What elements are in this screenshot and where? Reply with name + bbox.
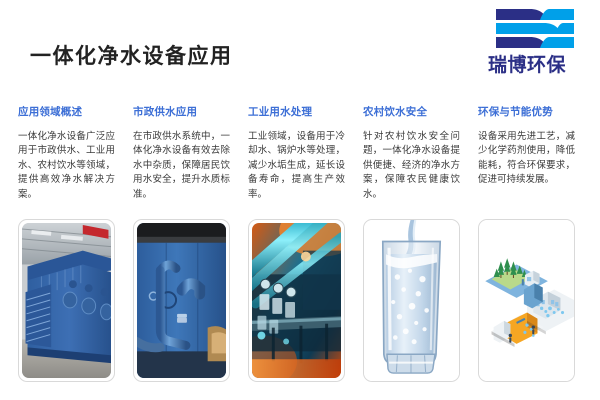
column-body-text: 针对农村饮水安全问题，一体化净水设备提供便捷、经济的净水方案，保障农民健康饮水。	[363, 130, 460, 222]
image-card-row	[18, 219, 582, 382]
column-body-text: 工业领域，设备用于冷却水、锅炉水等处理，减少水垢生成，延长设备寿命，提高生产效率…	[248, 130, 345, 222]
column-rural-drinking-safety: 农村饮水安全 针对农村饮水安全问题，一体化净水设备提供便捷、经济的净水方案，保障…	[363, 104, 460, 222]
brand-name: 瑞博环保	[468, 50, 586, 77]
column-eco-energy-advantage: 环保与节能优势 设备采用先进工艺，减少化学药剂使用，降低能耗，符合环保要求，促进…	[478, 104, 575, 222]
card-image-frame	[252, 223, 341, 378]
column-heading: 环保与节能优势	[478, 104, 575, 119]
isometric-water-plant-illustration	[479, 220, 574, 381]
ribo-wave-mark-icon	[496, 8, 574, 50]
column-industrial-water: 工业用水处理 工业领域，设备用于冷却水、锅炉水等处理，减少水垢生成，延长设备寿命…	[248, 104, 345, 222]
column-heading: 市政供水应用	[133, 104, 230, 119]
industrial-plant-pipes-photo	[252, 223, 341, 378]
blue-integrated-water-treatment-tank-photo	[22, 223, 111, 378]
column-body-text: 一体化净水设备广泛应用于市政供水、工业用水、农村饮水等领域，提供高效净水解决方案…	[18, 130, 115, 222]
card-image-frame	[479, 220, 574, 381]
glass-of-clean-water-photo	[364, 220, 459, 381]
card-image-frame	[364, 220, 459, 381]
column-heading: 应用领域概述	[18, 104, 115, 119]
card-image-frame	[22, 223, 111, 378]
image-card-application-overview	[18, 219, 115, 382]
image-card-rural-drinking-safety	[363, 219, 460, 382]
brand-logo: 瑞博环保	[468, 6, 586, 80]
column-application-overview: 应用领域概述 一体化净水设备广泛应用于市政供水、工业用水、农村饮水等领域，提供高…	[18, 104, 115, 222]
column-heading: 农村饮水安全	[363, 104, 460, 119]
card-image-frame	[137, 223, 226, 378]
column-heading: 工业用水处理	[248, 104, 345, 119]
column-municipal-supply: 市政供水应用 在市政供水系统中，一体化净水设备有效去除水中杂质，保障居民饮用水安…	[133, 104, 230, 222]
footer-spacer	[0, 386, 600, 400]
blue-pipework-photo	[137, 223, 226, 378]
image-card-industrial-water	[248, 219, 345, 382]
content-columns: 应用领域概述 一体化净水设备广泛应用于市政供水、工业用水、农村饮水等领域，提供高…	[18, 104, 582, 222]
image-card-eco-energy-advantage	[478, 219, 575, 382]
column-body-text: 设备采用先进工艺，减少化学药剂使用，降低能耗，符合环保要求，促进可持续发展。	[478, 130, 575, 222]
page-title: 一体化净水设备应用	[30, 40, 233, 70]
slide-page: 一体化净水设备应用 瑞博环保 应用领域概述 一体	[0, 0, 600, 400]
column-body-text: 在市政供水系统中，一体化净水设备有效去除水中杂质，保障居民饮用水安全，提升水质标…	[133, 130, 230, 222]
page-header: 一体化净水设备应用 瑞博环保	[0, 0, 600, 96]
image-card-municipal-supply	[133, 219, 230, 382]
